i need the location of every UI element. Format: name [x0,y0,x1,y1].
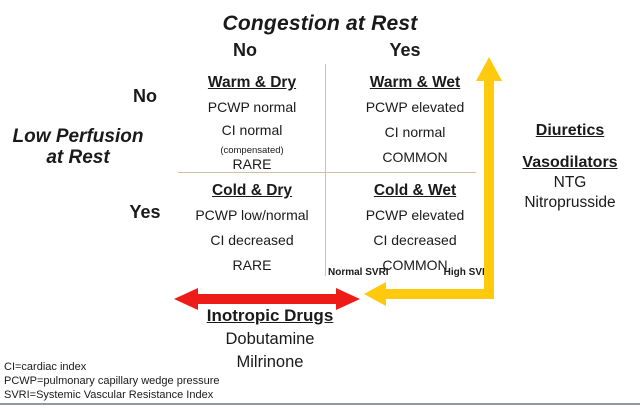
quadrant-ci: CI decreased [177,232,327,248]
vasodilators-heading: Vasodilators [500,154,640,172]
quadrant-frequency: RARE [177,257,327,273]
therapy-right-column: Diuretics Vasodilators NTG Nitroprusside [500,122,640,212]
column-axis-title: Congestion at Rest [0,12,640,36]
spacer [500,140,640,154]
quadrant-title: Warm & Dry [177,74,327,92]
quadrant-pcwp: PCWP normal [177,99,327,115]
footnotes-block: CI=cardiac index PCWP=pulmonary capillar… [4,360,404,402]
row-header-yes: Yes [120,202,170,223]
bottom-divider-rule [0,403,640,405]
footnote-ci: CI=cardiac index [4,360,404,374]
vasodilator-drug-ntg: NTG [500,174,640,192]
quadrant-warm-dry: Warm & Dry PCWP normal CI normal (compen… [177,74,327,172]
row-axis-title: Low Perfusion at Rest [8,126,148,168]
quadrant-note: (compensated) [177,145,327,156]
red-double-arrow-icon [172,286,362,312]
quadrant-ci: CI normal [177,122,327,138]
vasodilator-drug-nitroprusside: Nitroprusside [500,194,640,212]
hemodynamic-profiles-diagram: Congestion at Rest No Yes Low Perfusion … [0,0,640,410]
quadrant-cold-dry: Cold & Dry PCWP low/normal CI decreased … [177,182,327,273]
footnote-pcwp: PCWP=pulmonary capillary wedge pressure [4,374,404,388]
quadrant-pcwp: PCWP low/normal [177,207,327,223]
footnote-svri: SVRI=Systemic Vascular Resistance Index [4,388,404,402]
quadrant-frequency: RARE [177,156,327,172]
inotropic-drug-dobutamine: Dobutamine [160,330,380,349]
diuretics-heading: Diuretics [500,122,640,140]
yellow-elbow-arrow-icon [362,55,507,310]
row-header-no: No [120,86,170,107]
quadrant-title: Cold & Dry [177,182,327,200]
column-header-no: No [185,40,305,61]
